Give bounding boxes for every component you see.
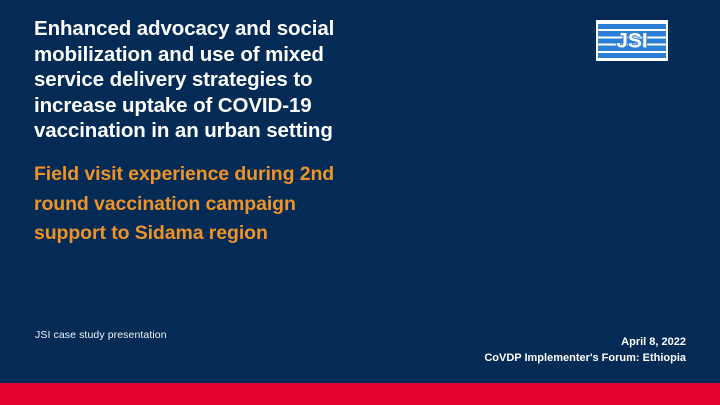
presentation-event: CoVDP Implementer's Forum: Ethiopia	[484, 350, 686, 366]
jsi-logo-text: JSI	[598, 30, 666, 51]
footer-caption: JSI case study presentation	[35, 328, 167, 342]
jsi-logo: JSI	[596, 20, 668, 61]
title-slide: Enhanced advocacy and social mobilizatio…	[0, 0, 720, 405]
footer-meta: April 8, 2022 CoVDP Implementer's Forum:…	[484, 334, 686, 366]
title-block: Enhanced advocacy and social mobilizatio…	[34, 16, 434, 144]
page-title: Enhanced advocacy and social mobilizatio…	[34, 16, 434, 144]
bottom-accent-bar	[0, 383, 720, 405]
slide-subtitle: Field visit experience during 2nd round …	[34, 160, 434, 249]
presentation-date: April 8, 2022	[484, 334, 686, 350]
jsi-logo-stripes: JSI	[598, 22, 666, 59]
